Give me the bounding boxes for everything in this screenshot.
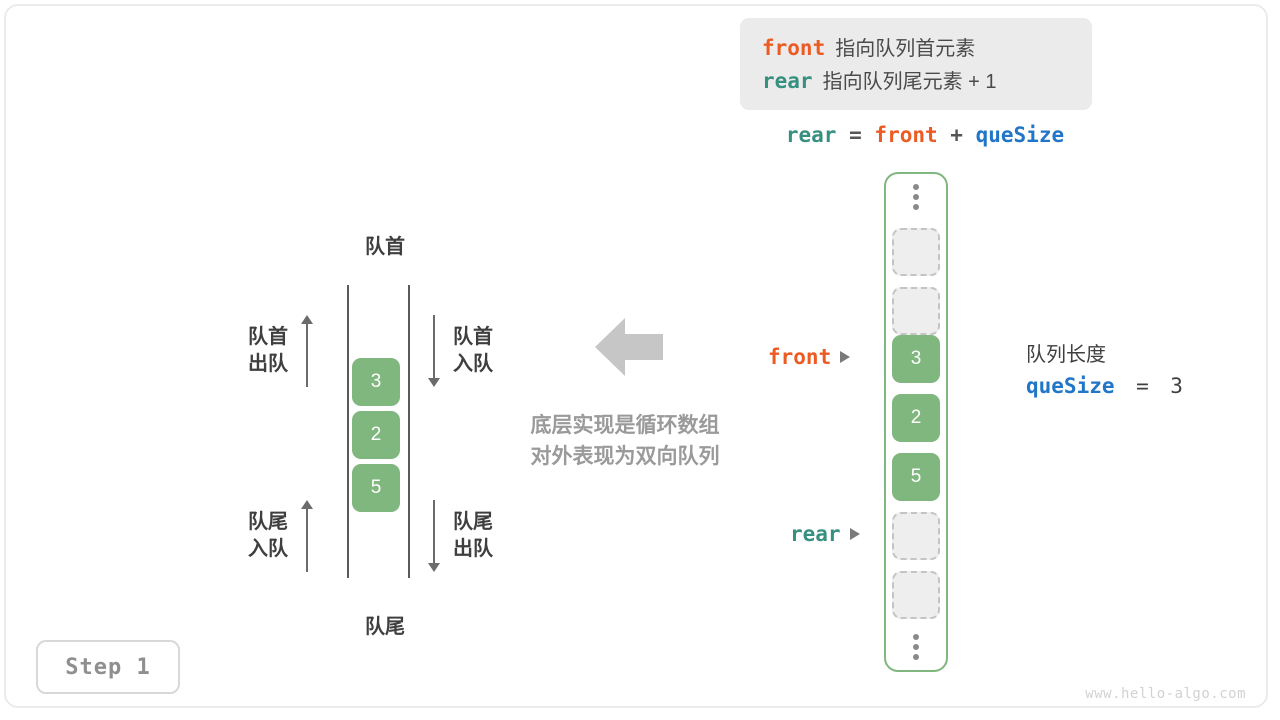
- arrow-right-icon-front: [840, 351, 850, 363]
- op-tail-enqueue-line2: 入队: [248, 536, 288, 563]
- center-note-line1: 底层实现是循环数组: [490, 410, 760, 441]
- note-line-front: front 指向队列首元素: [762, 32, 1092, 65]
- note-key-front: front: [762, 36, 825, 60]
- deque-head-label: 队首: [240, 230, 530, 259]
- deque-cell-2: 5: [352, 464, 400, 512]
- array-cell-6: [892, 571, 940, 619]
- op-head-enqueue-line2: 入队: [453, 351, 493, 378]
- note-desc-rear: 指向队列尾元素 + 1: [823, 65, 997, 94]
- formula-equals: =: [849, 123, 862, 147]
- array-cell-0: [892, 228, 940, 276]
- array-cell-2: 3: [892, 335, 940, 383]
- op-tail-dequeue-line2: 出队: [453, 536, 493, 563]
- op-head-dequeue-line2: 出队: [248, 351, 288, 378]
- op-tail-dequeue-text: 队尾 出队: [453, 509, 493, 563]
- deque-tail-label: 队尾: [240, 610, 530, 639]
- arrow-down-icon-head-enqueue: [427, 315, 441, 387]
- array-pointer-rear: rear: [790, 522, 860, 546]
- array-cell-3: 2: [892, 394, 940, 442]
- deque-cell-1: 2: [352, 411, 400, 459]
- op-head-dequeue-line1: 队首: [248, 324, 288, 351]
- queue-size-equals: =: [1136, 374, 1149, 398]
- pointer-definition-note: front 指向队列首元素 rear 指向队列尾元素 + 1: [740, 18, 1092, 110]
- deque-cell-0: 3: [352, 358, 400, 406]
- watermark: www.hello-algo.com: [1085, 686, 1246, 702]
- arrow-up-icon-head-dequeue: [300, 315, 314, 387]
- op-head-enqueue: 队首 入队: [415, 315, 493, 387]
- vertical-ellipsis-icon-top: [886, 180, 946, 214]
- arrow-right-icon-rear: [850, 528, 860, 540]
- queue-size-block: 队列长度 queSize = 3: [1026, 340, 1256, 402]
- note-line-rear: rear 指向队列尾元素 + 1: [762, 65, 1092, 98]
- arrow-left-icon-big: [595, 318, 663, 376]
- deque-rail-right: [408, 285, 410, 578]
- array-pointer-front: front: [768, 345, 850, 369]
- queue-size-formula: queSize = 3: [1026, 370, 1256, 402]
- note-desc-front: 指向队列首元素: [835, 32, 975, 61]
- formula-plus: +: [950, 123, 963, 147]
- op-tail-enqueue-line1: 队尾: [248, 509, 288, 536]
- formula-rear: rear: [786, 123, 837, 147]
- note-key-rear: rear: [762, 69, 813, 93]
- formula-front: front: [874, 123, 937, 147]
- op-tail-dequeue-line1: 队尾: [453, 509, 493, 536]
- arrow-down-icon-tail-dequeue: [427, 500, 441, 572]
- op-tail-enqueue-text: 队尾 入队: [248, 509, 288, 563]
- array-pointer-rear-label: rear: [790, 522, 841, 546]
- op-head-enqueue-line1: 队首: [453, 324, 493, 351]
- vertical-ellipsis-icon-bottom: [886, 630, 946, 664]
- arrow-up-icon-tail-enqueue: [300, 500, 314, 572]
- op-head-enqueue-text: 队首 入队: [453, 324, 493, 378]
- formula-quesize: queSize: [976, 123, 1065, 147]
- array-cell-5: [892, 512, 940, 560]
- center-note: 底层实现是循环数组 对外表现为双向队列: [490, 410, 760, 472]
- array-cell-1: [892, 287, 940, 335]
- op-tail-dequeue: 队尾 出队: [415, 500, 493, 572]
- array-pointer-front-label: front: [768, 345, 831, 369]
- op-head-dequeue-text: 队首 出队: [248, 324, 288, 378]
- step-badge: Step 1: [36, 640, 180, 694]
- op-tail-enqueue: 队尾 入队: [248, 500, 326, 572]
- deque-diagram: 队首 队尾 3 2 5 队首 出队 队首 入队: [240, 220, 530, 640]
- deque-rail-left: [347, 285, 349, 578]
- queue-size-value: 3: [1170, 374, 1183, 398]
- queue-size-title: 队列长度: [1026, 340, 1256, 370]
- array-cell-4: 5: [892, 453, 940, 501]
- diagram-canvas: front 指向队列首元素 rear 指向队列尾元素 + 1 rear = fr…: [0, 0, 1280, 720]
- rear-formula: rear = front + queSize: [760, 120, 1090, 150]
- queue-size-name: queSize: [1026, 374, 1115, 398]
- center-note-line2: 对外表现为双向队列: [490, 441, 760, 472]
- circular-array-container: 3 2 5: [884, 172, 948, 672]
- op-head-dequeue: 队首 出队: [248, 315, 326, 387]
